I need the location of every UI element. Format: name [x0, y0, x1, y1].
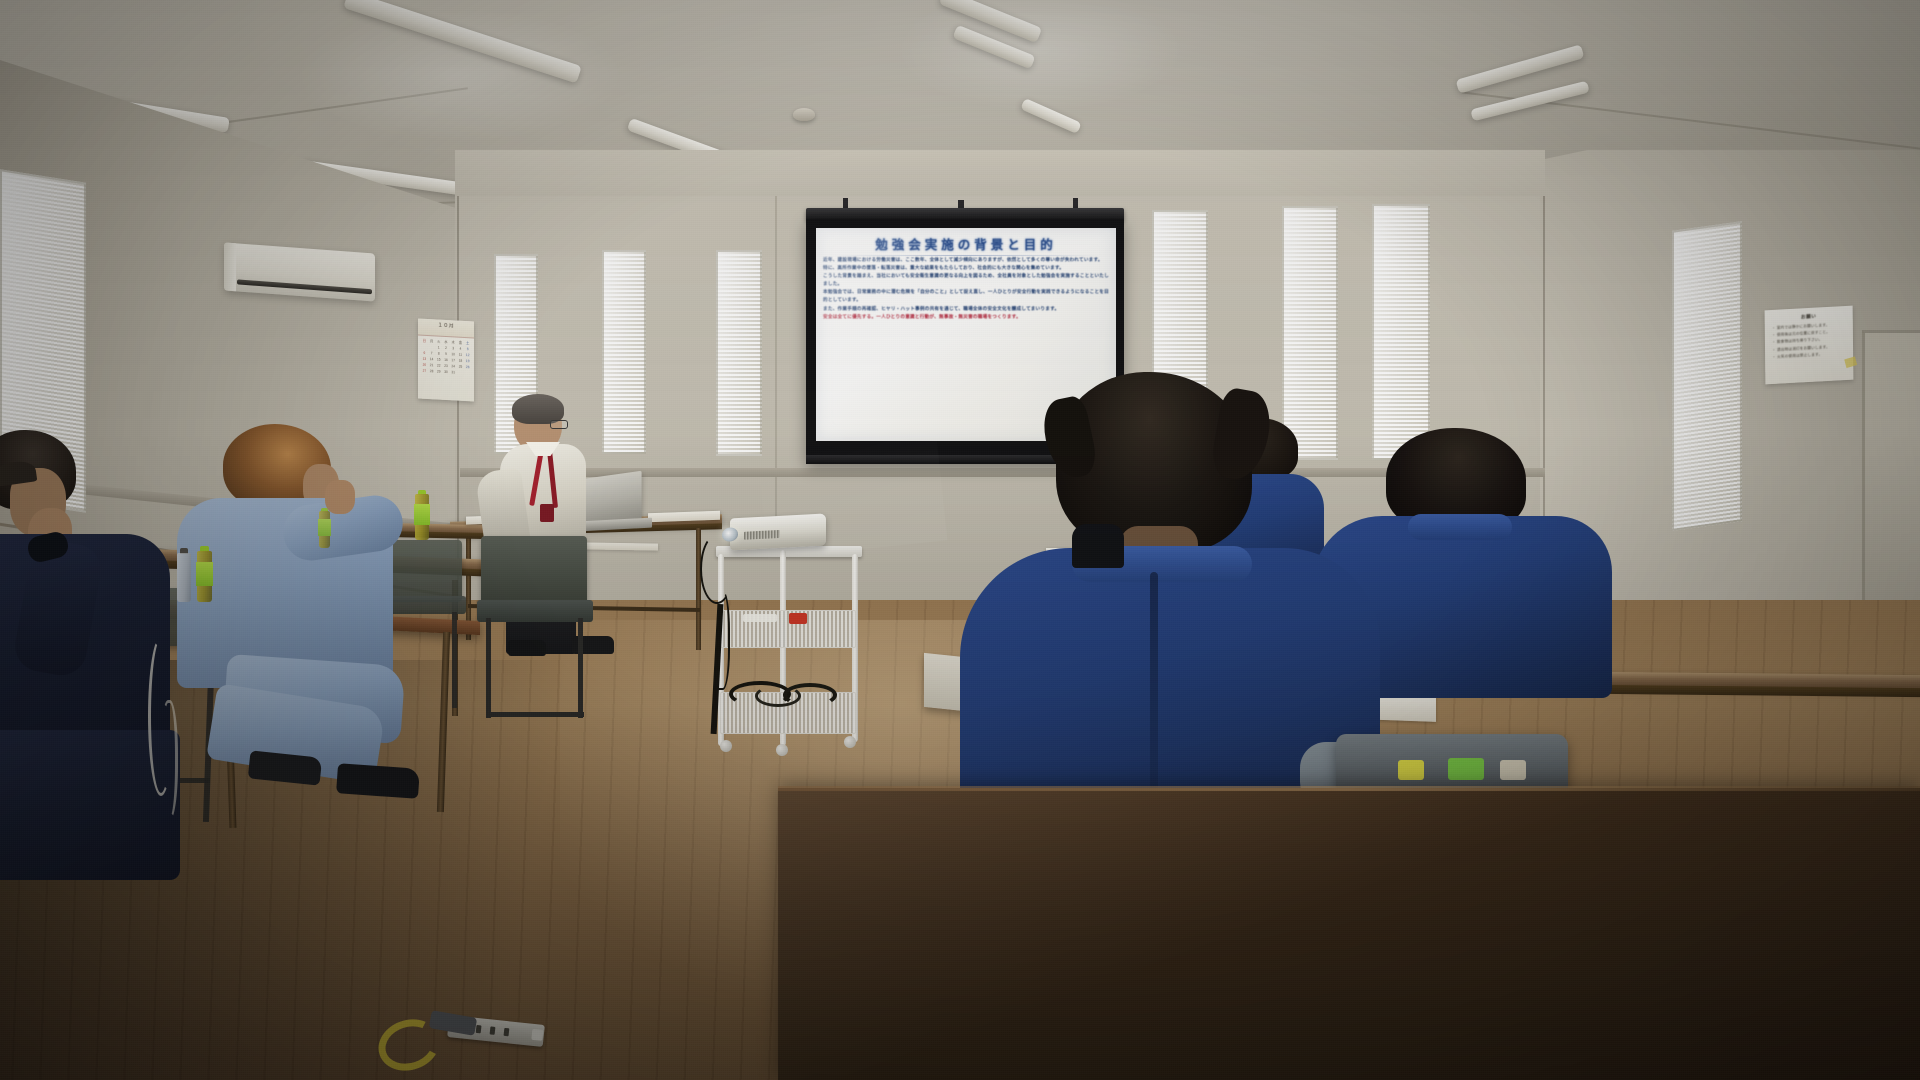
calendar-weekday: 土	[464, 341, 471, 347]
bag-on-table[interactable]	[1072, 524, 1124, 568]
attendee-2-shoe	[336, 763, 420, 799]
calendar-date: 9	[443, 352, 450, 358]
attendee-4-collar	[1408, 514, 1512, 540]
ac-vent	[237, 279, 372, 294]
meeting-room-photo: １０月 日 月 火 水 木 金 土 1 2 3 4 5 6 7 8 9 10 1…	[0, 0, 1920, 1080]
red-item[interactable]	[789, 613, 807, 624]
shoe	[508, 640, 546, 656]
cart-caster	[776, 744, 788, 756]
chair-sticker	[1500, 760, 1526, 780]
table-leg	[696, 528, 701, 650]
calendar-date: 25	[457, 365, 464, 371]
calendar-date	[464, 371, 471, 377]
power-strip-switch[interactable]	[531, 1029, 543, 1041]
calendar-month-label: １０月	[438, 322, 455, 330]
calendar-date: 28	[428, 370, 435, 376]
ac-side-panel	[224, 242, 236, 291]
white-item[interactable]	[743, 614, 777, 622]
chair-crossbar	[486, 712, 584, 717]
coiled-cable	[755, 685, 801, 707]
foreground-table-edge	[778, 786, 1920, 791]
chair-leg	[486, 618, 491, 718]
chair-sticker	[1448, 758, 1484, 780]
presenter	[480, 392, 630, 672]
slide-body-line: 本勉強会では、日常業務の中に潜む危険を「自分のこと」として捉え直し、一人ひとりが…	[816, 288, 1116, 304]
calendar-date: 19	[464, 359, 471, 365]
chair-leg	[578, 618, 583, 718]
calendar-weekday: 水	[443, 340, 450, 346]
chair-leg	[452, 612, 457, 708]
attendee-3-back-seam	[1150, 572, 1158, 802]
white-cable	[160, 700, 178, 820]
calendar-date: 8	[435, 352, 442, 358]
calendar-date: 15	[435, 358, 442, 364]
green-tea-bottle[interactable]	[414, 490, 430, 540]
calendar-weekday: 月	[428, 339, 435, 345]
calendar-weekday: 金	[457, 341, 464, 347]
calendar-date: 26	[464, 365, 471, 371]
calendar-date: 16	[443, 358, 450, 364]
calendar-date: 18	[457, 359, 464, 365]
calendar-weekday: 木	[450, 340, 457, 346]
slide-body-line: 特に、高所作業中の墜落・転落災害は、重大な結果をもたらしており、社会的にも大きな…	[816, 264, 1116, 272]
calendar-weekday: 火	[435, 339, 442, 345]
attendee-1	[0, 430, 230, 890]
window-right-wall	[1672, 221, 1742, 531]
presenter-chair-seat[interactable]	[477, 600, 593, 622]
calendar-date	[428, 345, 435, 351]
slide-body-line: 近年、建設現場における労働災害は、ここ数年、全体として減少傾向にありますが、依然…	[816, 256, 1116, 264]
calendar-date: 1	[435, 346, 442, 352]
calendar-date: 10	[450, 352, 457, 358]
presenter-chair-back[interactable]	[481, 536, 587, 606]
wall-calendar: １０月 日 月 火 水 木 金 土 1 2 3 4 5 6 7 8 9 10 1…	[418, 319, 474, 402]
clear-bottle[interactable]	[176, 548, 192, 602]
projector-vent	[744, 530, 780, 540]
cart-caster	[720, 740, 732, 752]
calendar-date: 5	[464, 347, 471, 353]
slide-body-line: こうした背景を踏まえ、当社においても安全衛生意識の更なる向上を図るため、全社員を…	[816, 272, 1116, 288]
calendar-date: 4	[457, 347, 464, 353]
calendar-date: 30	[443, 370, 450, 376]
calendar-date: 31	[450, 371, 457, 377]
calendar-date: 21	[428, 363, 435, 369]
slide-body-line: また、作業手順の再確認、ヒヤリ・ハット事例の共有を通じて、職場全体の安全文化を醸…	[816, 305, 1116, 313]
calendar-header: １０月	[418, 319, 474, 339]
wall-notice: お願い ・ 室内では静かにお願いします。 ・ 使用後は元の位置に戻すこと。 ・ …	[1765, 306, 1854, 385]
door-frame[interactable]	[1862, 330, 1920, 630]
calendar-date-grid: 日 月 火 水 木 金 土 1 2 3 4 5 6 7 8 9 10 11 12…	[418, 336, 474, 378]
cart-caster	[844, 736, 856, 748]
notice-title: お願い	[1772, 312, 1846, 322]
projector[interactable]	[730, 513, 826, 550]
calendar-date: 13	[421, 357, 428, 363]
calendar-date: 6	[421, 351, 428, 357]
calendar-date: 29	[435, 370, 442, 376]
calendar-date: 14	[428, 357, 435, 363]
projector-cart[interactable]	[716, 546, 862, 754]
calendar-date: 17	[450, 358, 457, 364]
calendar-date: 22	[435, 364, 442, 370]
green-tea-bottle[interactable]	[318, 508, 331, 548]
cart-bottom-basket	[720, 692, 856, 734]
slide-highlight-line: 安全は全てに優先する。一人ひとりの意識と行動が、無事故・無災害の職場をつくります…	[816, 313, 1116, 321]
calendar-date: 12	[464, 353, 471, 359]
cart-middle-basket	[720, 610, 856, 648]
calendar-date: 23	[443, 364, 450, 370]
calendar-date: 20	[421, 363, 428, 369]
green-tea-bottle[interactable]	[196, 546, 213, 602]
calendar-weekday: 日	[421, 339, 428, 345]
lanyard-badge	[540, 504, 554, 522]
attendee-3	[960, 372, 1380, 842]
calendar-date: 24	[450, 365, 457, 371]
slide-title: 勉強会実施の背景と目的	[816, 228, 1116, 253]
calendar-date: 27	[421, 369, 428, 375]
calendar-date: 3	[450, 346, 457, 352]
window-back-6	[1372, 204, 1430, 460]
calendar-date: 2	[443, 346, 450, 352]
chair-sticker	[1398, 760, 1424, 780]
calendar-date: 11	[457, 353, 464, 359]
calendar-date	[421, 345, 428, 351]
foreground-table-sheen	[778, 788, 1920, 1080]
glasses-icon	[550, 420, 568, 429]
smoke-detector-icon	[793, 108, 815, 121]
calendar-date	[457, 371, 464, 377]
calendar-date: 7	[428, 351, 435, 357]
wall-upper-band	[455, 150, 1545, 196]
